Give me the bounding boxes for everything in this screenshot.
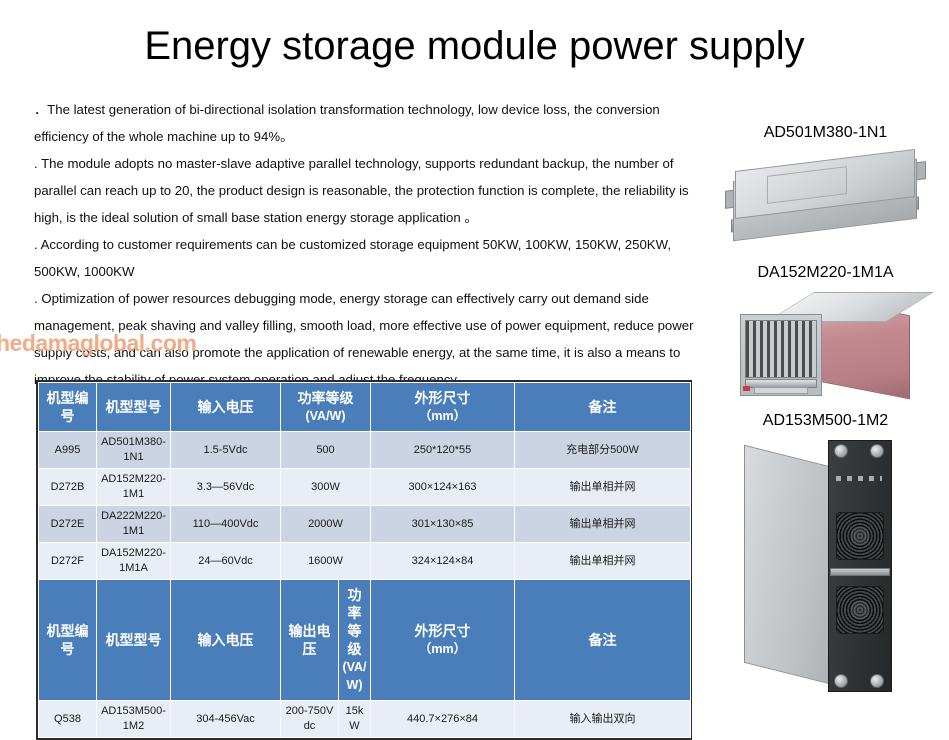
body-paragraph-1: ．The latest generation of bi-directional…: [34, 96, 702, 150]
cell-remark: 充电部分500W: [515, 432, 691, 469]
cell-power: 2000W: [281, 506, 371, 543]
status-led-indicator: [743, 386, 750, 391]
header-a-power-rating-unit: (VA/W): [283, 407, 368, 425]
cell-dimensions: 250*120*55: [371, 432, 515, 469]
header-a-input-voltage: 输入电压: [171, 383, 281, 432]
header-a-model-type: 机型型号: [97, 383, 171, 432]
body-paragraph-3: . According to customer requirements can…: [34, 231, 702, 285]
cell-model-type: AD153M500-1M2: [97, 701, 171, 738]
page-title: Energy storage module power supply: [0, 24, 949, 69]
cell-output-voltage: 200-750Vdc: [281, 701, 339, 738]
rack-module-handle: [830, 568, 890, 576]
spec-header-row-a: 机型编号 机型型号 输入电压 功率等级 (VA/W) 外形尺寸 （mm） 备注: [39, 383, 691, 432]
cell-input-voltage: 110—400Vdc: [171, 506, 281, 543]
header-b-dimensions-main: 外形尺寸: [415, 623, 471, 639]
product-image-ad153m500-1m2: [726, 434, 926, 696]
body-copy: ．The latest generation of bi-directional…: [34, 96, 702, 393]
cell-input-voltage: 24—60Vdc: [171, 543, 281, 580]
fan-grille-top-icon: [836, 512, 884, 560]
header-a-dimensions: 外形尺寸 （mm）: [371, 383, 515, 432]
header-b-input-voltage: 输入电压: [171, 580, 281, 701]
body-paragraph-2: . The module adopts no master-slave adap…: [34, 150, 702, 231]
cell-remark: 输出单相并网: [515, 543, 691, 580]
cell-model-type: DA222M220-1M1: [97, 506, 171, 543]
header-a-remark: 备注: [515, 383, 691, 432]
thumbscrew-top-left: [834, 444, 848, 458]
cell-dimensions: 440.7×276×84: [371, 701, 515, 738]
cell-dimensions: 324×124×84: [371, 543, 515, 580]
header-b-dimensions-unit: （mm）: [373, 640, 512, 658]
header-b-model-type: 机型型号: [97, 580, 171, 701]
cell-power: 500: [281, 432, 371, 469]
cell-remark: 输入输出双向: [515, 701, 691, 738]
rack-module-side-panel: [744, 445, 834, 685]
product-label-2: DA152M220-1M1A: [706, 264, 945, 282]
table-row: Q538 AD153M500-1M2 304-456Vac 200-750Vdc…: [39, 701, 691, 738]
spec-table: 机型编号 机型型号 输入电压 功率等级 (VA/W) 外形尺寸 （mm） 备注 …: [36, 380, 692, 740]
header-b-dimensions: 外形尺寸 （mm）: [371, 580, 515, 701]
cell-model-no: D272B: [39, 469, 97, 506]
header-b-power-rating-main: 功率等级: [348, 587, 362, 657]
cell-remark: 输出单相并网: [515, 469, 691, 506]
header-b-remark: 备注: [515, 580, 691, 701]
cell-model-no: A995: [39, 432, 97, 469]
body-paragraph-4: . Optimization of power resources debugg…: [34, 285, 702, 393]
cell-dimensions: 301×130×85: [371, 506, 515, 543]
product-photo-block-2: DA152M220-1M1A: [706, 264, 945, 398]
header-a-dimensions-main: 外形尺寸: [415, 390, 471, 406]
thumbscrew-top-right: [870, 444, 884, 458]
spec-header-row-b: 机型编号 机型型号 输入电压 输出电压 功率等级 (VA/W) 外形尺寸 （mm…: [39, 580, 691, 701]
status-led-row: [836, 476, 882, 481]
cell-power: 300W: [281, 469, 371, 506]
product-image-da152m220-1m1a: [718, 286, 933, 398]
cell-model-no: D272F: [39, 543, 97, 580]
module-label-strip: [754, 387, 808, 394]
cell-input-voltage: 3.3—56Vdc: [171, 469, 281, 506]
fan-grille-bottom-icon: [836, 586, 884, 634]
cell-model-type: AD152M220-1M1: [97, 469, 171, 506]
table-row: D272E DA222M220-1M1 110—400Vdc 2000W 301…: [39, 506, 691, 543]
cell-input-voltage: 1.5-5Vdc: [171, 432, 281, 469]
header-b-power-rating-unit: (VA/W): [341, 658, 368, 694]
product-label-1: AD501M380-1N1: [706, 124, 945, 142]
cell-power: 1600W: [281, 543, 371, 580]
cell-model-type: DA152M220-1M1A: [97, 543, 171, 580]
product-photo-block-3: AD153M500-1M2: [706, 412, 945, 696]
thumbscrew-bottom-left: [834, 674, 848, 688]
spec-table-grid: 机型编号 机型型号 输入电压 功率等级 (VA/W) 外形尺寸 （mm） 备注 …: [38, 382, 691, 738]
cell-power: 15kW: [339, 701, 371, 738]
cell-remark: 输出单相并网: [515, 506, 691, 543]
product-photo-block-1: AD501M380-1N1: [706, 124, 945, 246]
header-a-model-no: 机型编号: [39, 383, 97, 432]
cell-model-no: Q538: [39, 701, 97, 738]
header-a-power-rating-main: 功率等级: [298, 390, 354, 406]
ventilation-grille-icon: [745, 320, 817, 378]
cell-model-no: D272E: [39, 506, 97, 543]
header-b-output-voltage: 输出电压: [281, 580, 339, 701]
thumbscrew-bottom-right: [870, 674, 884, 688]
cell-model-type: AD501M380-1N1: [97, 432, 171, 469]
header-b-model-no: 机型编号: [39, 580, 97, 701]
product-label-3: AD153M500-1M2: [706, 412, 945, 430]
table-row: A995 AD501M380-1N1 1.5-5Vdc 500 250*120*…: [39, 432, 691, 469]
table-row: D272B AD152M220-1M1 3.3—56Vdc 300W 300×1…: [39, 469, 691, 506]
table-row: D272F DA152M220-1M1A 24—60Vdc 1600W 324×…: [39, 543, 691, 580]
product-image-ad501m380-1n1: [723, 146, 928, 246]
header-a-power-rating: 功率等级 (VA/W): [281, 383, 371, 432]
header-a-dimensions-unit: （mm）: [373, 407, 512, 425]
header-b-power-rating: 功率等级 (VA/W): [339, 580, 371, 701]
cell-dimensions: 300×124×163: [371, 469, 515, 506]
cell-input-voltage: 304-456Vac: [171, 701, 281, 738]
